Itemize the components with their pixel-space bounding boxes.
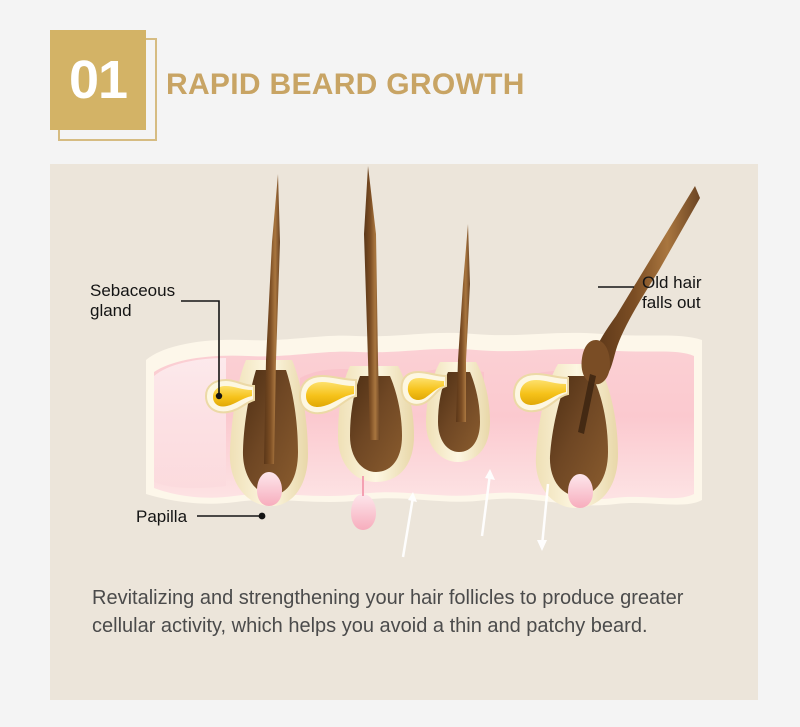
label-papilla: Papilla [136, 507, 188, 526]
hair-follicle-diagram: Sebaceous gland Old hair falls out Papil… [50, 164, 758, 574]
arrow-up-left [403, 492, 417, 557]
label-sebaceous-gland: Sebaceous gland [90, 281, 180, 320]
label-sebaceous-gland-line-2: gland [90, 301, 132, 320]
label-sebaceous-gland-line-1: Sebaceous [90, 281, 175, 300]
step-badge: 01 [50, 30, 158, 142]
skin-cross-section [146, 333, 702, 506]
label-old-hair-line-2: falls out [642, 293, 701, 312]
header: 01 RAPID BEARD GROWTH [0, 0, 800, 160]
follicle-2-detached-papilla [351, 494, 376, 530]
page-title: RAPID BEARD GROWTH [166, 68, 525, 102]
leader-sebaceous-dot [216, 393, 222, 399]
label-old-hair-falls-out: Old hair falls out [642, 273, 706, 312]
dermis-highlight-left [154, 358, 226, 488]
content-panel: Sebaceous gland Old hair falls out Papil… [50, 164, 758, 700]
label-papilla-line-1: Papilla [136, 507, 188, 526]
badge-square: 01 [50, 30, 146, 130]
follicle-4-old-hair-root [582, 340, 611, 384]
label-old-hair-line-1: Old hair [642, 273, 702, 292]
leader-papilla-dot [259, 513, 266, 520]
description-text: Revitalizing and strengthening your hair… [92, 584, 722, 641]
badge-number: 01 [69, 53, 127, 107]
